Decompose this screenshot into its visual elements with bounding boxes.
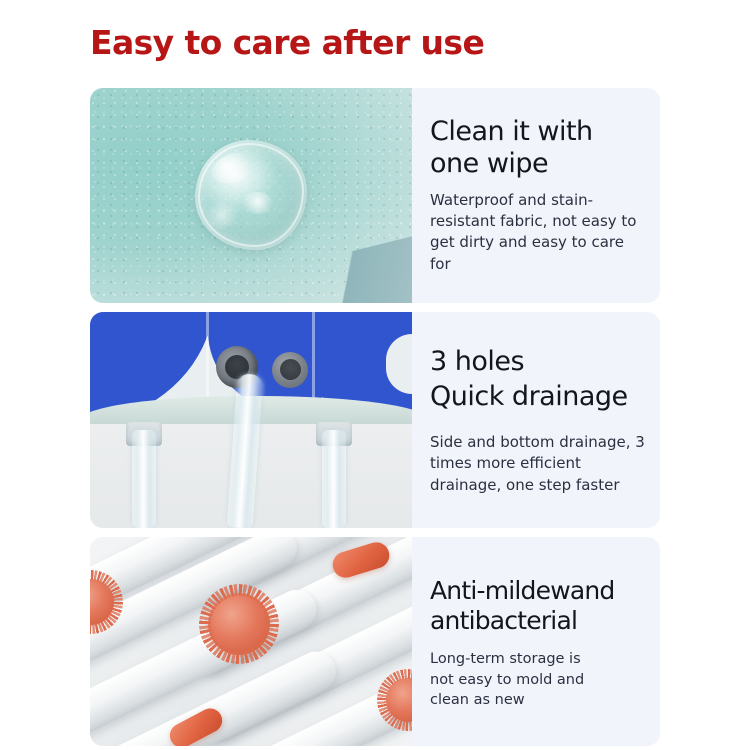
feature-description: Side and bottom drainage, 3 times more e… (430, 432, 646, 496)
droplet-highlight (207, 198, 237, 232)
feature-description: Long-term storage is not easy to mold an… (430, 649, 595, 711)
feature-description: Waterproof and stain-resistant fabric, n… (430, 190, 646, 275)
water-stream (322, 430, 346, 528)
feature-card-quick-drainage: 3 holes Quick drainage Side and bottom d… (90, 312, 660, 528)
fiber-microscope-scene (90, 537, 412, 746)
drainage-scene (90, 312, 412, 528)
virus-icon (386, 678, 412, 722)
feature-text-clean-one-wipe: Clean it with one wipe Waterproof and st… (412, 88, 660, 303)
feature-card-clean-one-wipe: Clean it with one wipe Waterproof and st… (90, 88, 660, 303)
feature-heading: 3 holes Quick drainage (430, 344, 646, 414)
feature-heading-line-2: antibacterial (430, 606, 577, 635)
feature-image-fibers (90, 537, 412, 746)
virus-icon (90, 579, 114, 625)
feature-card-list: Clean it with one wipe Waterproof and st… (90, 88, 660, 746)
water-stream (132, 430, 156, 528)
feature-text-quick-drainage: 3 holes Quick drainage Side and bottom d… (412, 312, 660, 528)
feature-heading-line-2: Quick drainage (430, 381, 628, 412)
feature-heading: Anti-mildewand antibacterial (430, 576, 646, 635)
feature-heading: Clean it with one wipe (430, 116, 646, 180)
drain-plug-icon (272, 352, 308, 388)
virus-icon (208, 593, 270, 655)
page-title: Easy to care after use (90, 23, 484, 62)
feature-text-anti-mildew: Anti-mildewand antibacterial Long-term s… (412, 537, 660, 746)
droplet-highlight (241, 192, 275, 214)
feature-heading-line-1: Anti-mildewand (430, 576, 615, 605)
infographic-page: Easy to care after use Clean it with one… (0, 0, 750, 750)
feature-image-drainage (90, 312, 412, 528)
feature-image-water-droplet (90, 88, 412, 303)
feature-card-anti-mildew: Anti-mildewand antibacterial Long-term s… (90, 537, 660, 746)
feature-heading-line-1: 3 holes (430, 346, 524, 377)
water-droplet-icon (195, 140, 307, 250)
